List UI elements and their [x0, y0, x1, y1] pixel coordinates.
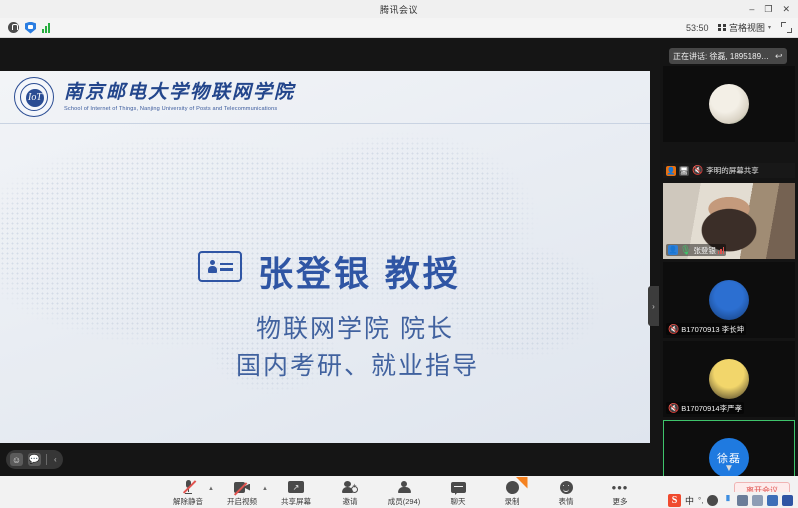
grid-view-icon: [718, 24, 726, 32]
close-button[interactable]: ✕: [782, 5, 790, 14]
signal-bars-icon[interactable]: [42, 22, 50, 33]
participant-icon: 👤: [668, 245, 678, 255]
participant-name: 李明的屏幕共享: [706, 165, 759, 176]
slide-header: IoT 南京邮电大学物联网学院 School of Internet of Th…: [14, 77, 295, 117]
shared-screen-area[interactable]: IoT 南京邮电大学物联网学院 School of Internet of Th…: [0, 38, 660, 476]
slide-subtitle-1: 物联网学院 院长: [256, 309, 454, 345]
participant-label: 👤 🎙 张登银: [666, 244, 726, 256]
mic-muted-icon: [183, 480, 194, 495]
participant-name: B17070913 李长坤: [681, 324, 744, 335]
fullscreen-icon[interactable]: [781, 22, 792, 33]
sidebar-collapse-handle[interactable]: ›: [648, 286, 659, 326]
window-title: 腾讯会议: [380, 3, 418, 16]
participant-label: 🔇 B17070913 李长坤: [666, 323, 746, 335]
avatar: [709, 280, 749, 320]
control-label: 聊天: [451, 496, 466, 507]
signal-bars-icon: [718, 247, 725, 254]
mic-muted-icon: 🔇: [692, 165, 703, 176]
minimize-button[interactable]: –: [749, 5, 754, 14]
controls-group: 解除静音 ▲ 开启视频 ▲ 共享屏幕 邀请: [151, 478, 647, 507]
meeting-appbar: 53:50 宫格视图 ▾: [0, 18, 798, 38]
grid-icon[interactable]: [752, 495, 763, 506]
window-titlebar: 腾讯会议 – ❐ ✕: [0, 0, 798, 18]
chevron-up-icon[interactable]: ▲: [262, 486, 268, 492]
toolbox-icon[interactable]: [767, 495, 778, 506]
view-mode-label: 宫格视图: [729, 21, 765, 34]
participant-icon: 👤: [666, 166, 676, 176]
window-buttons: – ❐ ✕: [749, 0, 796, 18]
active-speaker-banner: 正在讲话: 徐磊, 18951896… ↩: [669, 48, 787, 64]
chevron-up-icon[interactable]: ▲: [208, 486, 214, 492]
invite-icon: [342, 480, 358, 495]
share-float-toolbar[interactable]: ☺ 💬 ‹: [6, 450, 63, 469]
ime-punctuation-icon[interactable]: °,: [698, 496, 703, 505]
participant-name: B17070914李严孝: [681, 403, 742, 414]
university-name: 南京邮电大学物联网学院: [64, 82, 295, 104]
control-label: 解除静音: [173, 496, 203, 507]
chat-button[interactable]: 聊天: [431, 478, 485, 507]
avatar: [709, 359, 749, 399]
meeting-stage: IoT 南京邮电大学物联网学院 School of Internet of Th…: [0, 38, 798, 476]
id-card-icon: [198, 251, 242, 282]
panel-icon[interactable]: [782, 495, 793, 506]
record-icon: [506, 480, 519, 495]
back-arrow-icon[interactable]: ↩: [775, 51, 783, 62]
mic-muted-icon: 🔇: [668, 324, 679, 335]
control-label: 共享屏幕: [281, 496, 311, 507]
lock-icon[interactable]: [8, 22, 19, 33]
appbar-status-icons: [0, 22, 50, 34]
shield-icon[interactable]: [25, 22, 36, 34]
participant-tile[interactable]: 🔇 B17070913 李长坤: [663, 262, 795, 338]
circle-icon[interactable]: [707, 495, 718, 506]
university-subtitle: School of Internet of Things, Nanjing Un…: [64, 106, 295, 112]
university-seal-icon: IoT: [14, 77, 54, 117]
slide-title: 张登银 教授: [258, 246, 461, 297]
chat-icon[interactable]: 💬: [28, 453, 41, 466]
avatar: [709, 84, 749, 124]
participant-tile[interactable]: [663, 66, 795, 142]
emoji-button[interactable]: 表情: [539, 478, 593, 507]
collapse-icon[interactable]: ‹: [52, 455, 59, 464]
control-label: 成员(294): [388, 496, 421, 507]
slide-divider: [0, 123, 650, 124]
participant-label: 🔇 B17070914李严孝: [666, 402, 744, 414]
university-title-block: 南京邮电大学物联网学院 School of Internet of Things…: [64, 82, 295, 113]
active-speaker-label: 正在讲话: 徐磊, 18951896…: [673, 51, 771, 62]
control-label: 表情: [559, 496, 574, 507]
invite-button[interactable]: 邀请: [323, 478, 377, 507]
mic-muted-icon: 🔇: [668, 403, 679, 414]
members-icon: [398, 480, 411, 495]
screen-share-label-row[interactable]: 👤 🖥 🔇 李明的屏幕共享: [663, 163, 795, 178]
card-lines-glyph: [220, 263, 233, 271]
unmute-button[interactable]: 解除静音 ▲: [161, 478, 215, 507]
slide-subtitle-2: 国内考研、就业指导: [236, 346, 479, 382]
scroll-down-icon[interactable]: ▼: [724, 463, 734, 474]
appbar-right-cluster: 53:50 宫格视图 ▾: [686, 21, 798, 34]
chevron-down-icon: ▾: [768, 24, 771, 31]
meeting-timer: 53:50: [686, 23, 709, 33]
view-mode-selector[interactable]: 宫格视图 ▾: [718, 21, 771, 34]
participant-tile[interactable]: 🔇 B17070914李严孝: [663, 341, 795, 417]
participant-sidebar: 正在讲话: 徐磊, 18951896… ↩ 👤 🖥 🔇 李明的屏幕共享 👤 🎙: [660, 38, 798, 476]
camera-off-icon: [234, 480, 250, 495]
mic-on-icon: 🎙: [680, 245, 691, 256]
more-button[interactable]: ••• 更多: [593, 478, 647, 507]
toolbar-divider: [46, 454, 47, 465]
control-label: 邀请: [343, 496, 358, 507]
ime-toolbar: S 中 °,: [660, 492, 798, 508]
members-button[interactable]: 成员(294): [377, 478, 431, 507]
mic-icon[interactable]: [722, 495, 733, 506]
participant-name: 张登银: [693, 245, 716, 256]
share-screen-button[interactable]: 共享屏幕: [269, 478, 323, 507]
tencent-meeting-window: 腾讯会议 – ❐ ✕ 53:50 宫格视图 ▾: [0, 0, 798, 508]
ime-mode-label[interactable]: 中: [685, 494, 694, 507]
share-screen-icon: [288, 480, 304, 495]
seal-core-label: IoT: [26, 89, 44, 107]
maximize-button[interactable]: ❐: [764, 5, 772, 14]
control-label: 开启视频: [227, 496, 257, 507]
sogou-logo-icon[interactable]: S: [668, 494, 681, 507]
emoji-icon: [560, 480, 573, 495]
person-glyph: [208, 260, 217, 273]
chat-icon: [451, 480, 466, 495]
control-label: 更多: [613, 496, 628, 507]
presentation-slide: IoT 南京邮电大学物联网学院 School of Internet of Th…: [0, 71, 650, 443]
keyboard-icon[interactable]: [737, 495, 748, 506]
emoji-icon[interactable]: ☺: [10, 453, 23, 466]
start-video-button[interactable]: 开启视频 ▲: [215, 478, 269, 507]
participant-tile[interactable]: 👤 🎙 张登银: [663, 183, 795, 259]
record-button[interactable]: 录制: [485, 478, 539, 507]
monitor-icon: 🖥: [679, 166, 689, 176]
control-label: 录制: [505, 496, 520, 507]
more-icon: •••: [612, 480, 629, 495]
